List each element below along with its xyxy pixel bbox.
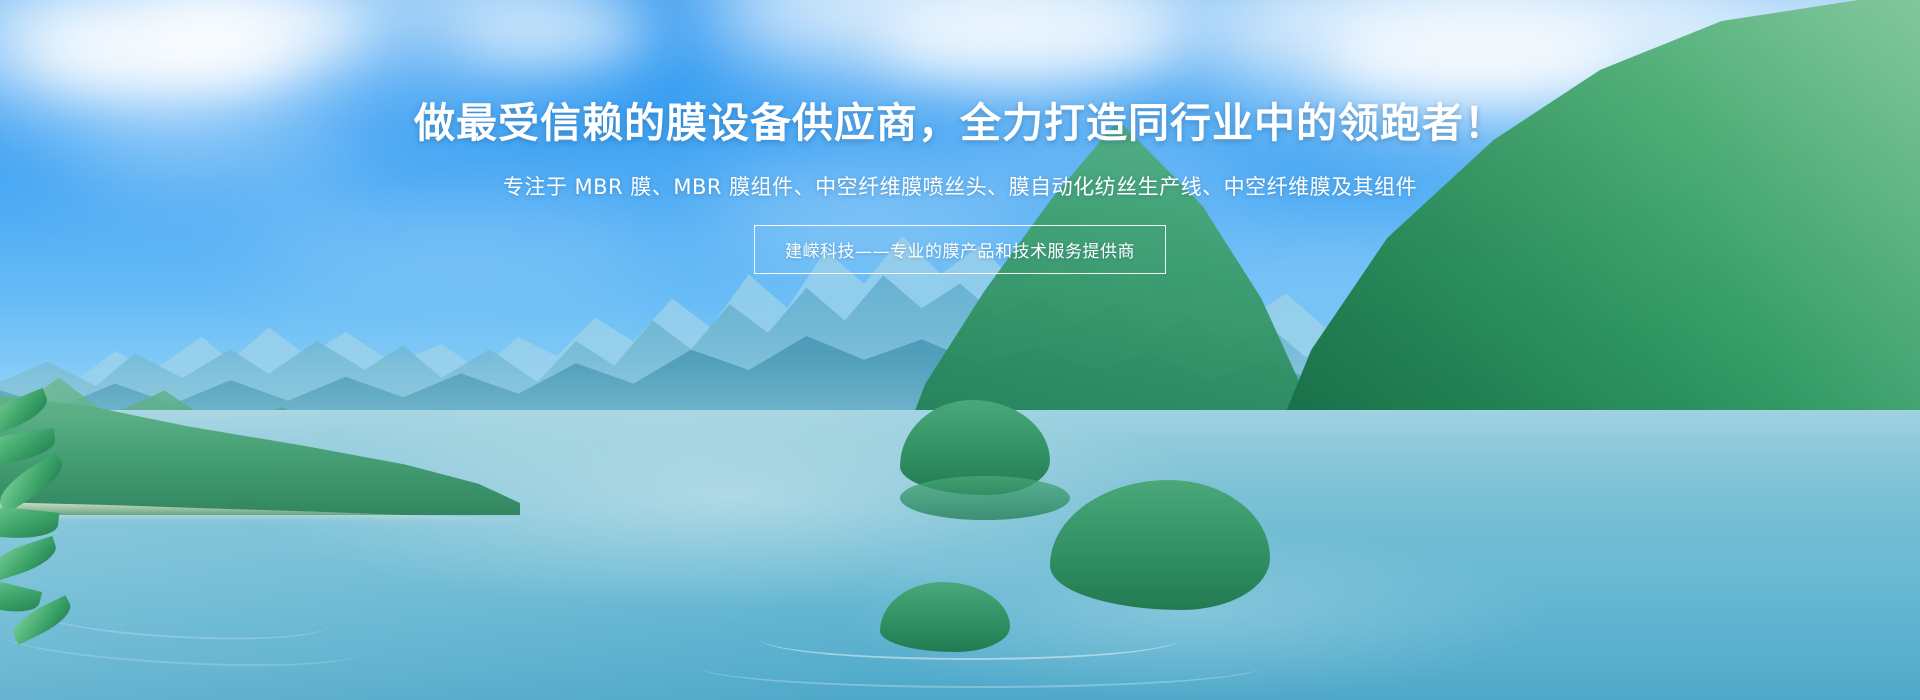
hero-banner: 做最受信赖的膜设备供应商，全力打造同行业中的领跑者！ 专注于 MBR 膜、MBR… — [0, 0, 1920, 700]
banner-subheadline: 专注于 MBR 膜、MBR 膜组件、中空纤维膜喷丝头、膜自动化纺丝生产线、中空纤… — [0, 147, 1920, 201]
foreground-foliage — [0, 390, 170, 650]
banner-headline: 做最受信赖的膜设备供应商，全力打造同行业中的领跑者！ — [0, 0, 1920, 147]
hero-text-block: 做最受信赖的膜设备供应商，全力打造同行业中的领跑者！ 专注于 MBR 膜、MBR… — [0, 0, 1920, 274]
tagline-container: 建嵘科技——专业的膜产品和技术服务提供商 — [0, 201, 1920, 274]
company-tagline-box: 建嵘科技——专业的膜产品和技术服务提供商 — [754, 225, 1166, 274]
